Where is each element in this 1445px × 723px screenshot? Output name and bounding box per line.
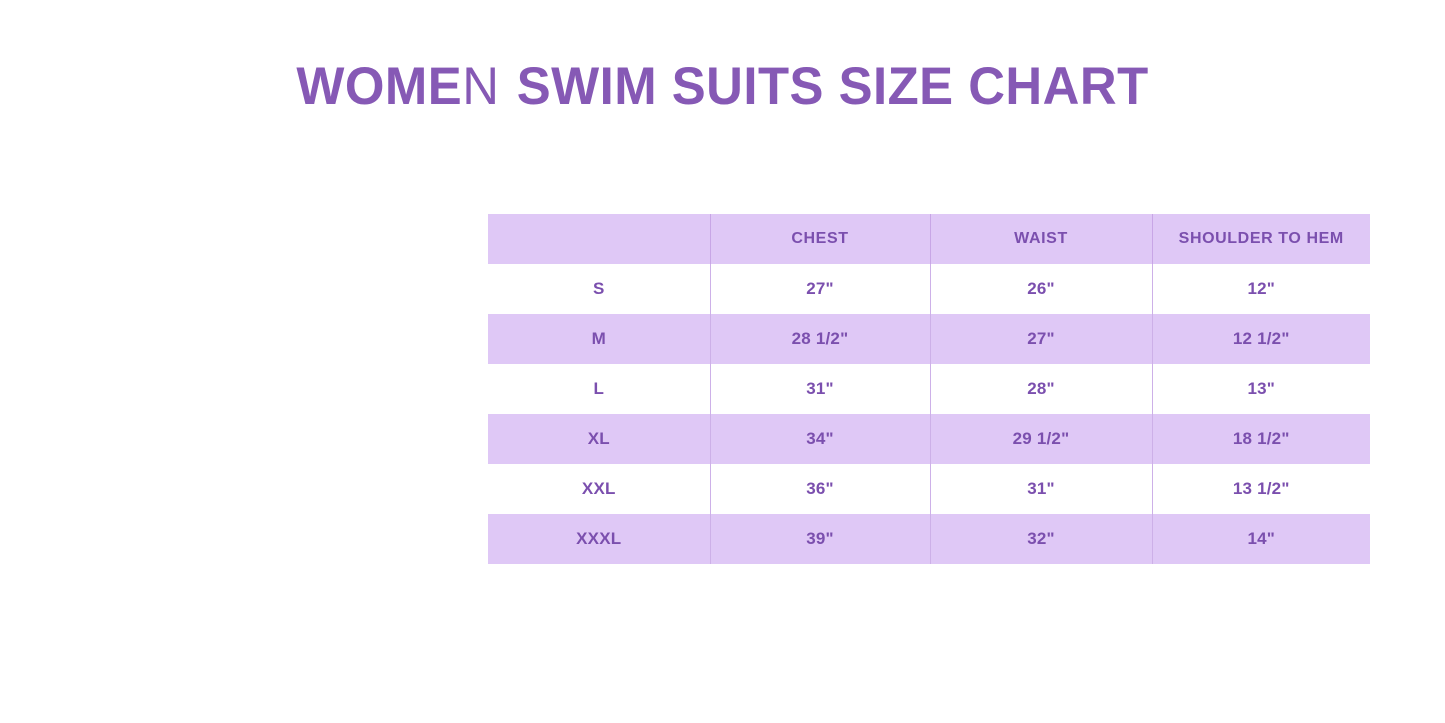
cell-shoulder-to-hem: 18 1/2" bbox=[1152, 414, 1370, 464]
cell-size: XL bbox=[488, 414, 710, 464]
page-title-part-alt: N bbox=[462, 57, 499, 116]
table-row: XXXL 39" 32" 14" bbox=[488, 514, 1370, 564]
cell-chest: 36" bbox=[710, 464, 930, 514]
cell-shoulder-to-hem: 13" bbox=[1152, 364, 1370, 414]
page-title-part-one: WOME bbox=[296, 57, 462, 116]
table-row: M 28 1/2" 27" 12 1/2" bbox=[488, 314, 1370, 364]
cell-waist: 28" bbox=[930, 364, 1152, 414]
cell-waist: 27" bbox=[930, 314, 1152, 364]
size-chart-table: CHEST WAIST SHOULDER TO HEM S 27" 26" 12… bbox=[488, 214, 1370, 564]
cell-chest: 27" bbox=[710, 264, 930, 314]
table-body: S 27" 26" 12" M 28 1/2" 27" 12 1/2" L 31… bbox=[488, 264, 1370, 564]
cell-size: XXXL bbox=[488, 514, 710, 564]
table-row: XL 34" 29 1/2" 18 1/2" bbox=[488, 414, 1370, 464]
cell-shoulder-to-hem: 14" bbox=[1152, 514, 1370, 564]
cell-size: L bbox=[488, 364, 710, 414]
cell-size: M bbox=[488, 314, 710, 364]
cell-waist: 32" bbox=[930, 514, 1152, 564]
cell-size: XXL bbox=[488, 464, 710, 514]
cell-chest: 39" bbox=[710, 514, 930, 564]
column-header-chest: CHEST bbox=[710, 214, 930, 264]
cell-chest: 28 1/2" bbox=[710, 314, 930, 364]
table-row: L 31" 28" 13" bbox=[488, 364, 1370, 414]
page-title: WOMENSWIM SUITS SIZE CHART bbox=[29, 56, 1416, 117]
cell-waist: 26" bbox=[930, 264, 1152, 314]
header-row: CHEST WAIST SHOULDER TO HEM bbox=[488, 214, 1370, 264]
cell-chest: 31" bbox=[710, 364, 930, 414]
cell-waist: 29 1/2" bbox=[930, 414, 1152, 464]
cell-waist: 31" bbox=[930, 464, 1152, 514]
cell-shoulder-to-hem: 12 1/2" bbox=[1152, 314, 1370, 364]
cell-shoulder-to-hem: 13 1/2" bbox=[1152, 464, 1370, 514]
table-header: CHEST WAIST SHOULDER TO HEM bbox=[488, 214, 1370, 264]
column-header-waist: WAIST bbox=[930, 214, 1152, 264]
cell-chest: 34" bbox=[710, 414, 930, 464]
size-chart-page: WOMENSWIM SUITS SIZE CHART CHEST WAIST S… bbox=[0, 0, 1445, 723]
table-row: S 27" 26" 12" bbox=[488, 264, 1370, 314]
column-header-size bbox=[488, 214, 710, 264]
cell-shoulder-to-hem: 12" bbox=[1152, 264, 1370, 314]
page-title-part-two: SWIM SUITS SIZE CHART bbox=[517, 57, 1149, 116]
column-header-shoulder-to-hem: SHOULDER TO HEM bbox=[1152, 214, 1370, 264]
table-row: XXL 36" 31" 13 1/2" bbox=[488, 464, 1370, 514]
cell-size: S bbox=[488, 264, 710, 314]
